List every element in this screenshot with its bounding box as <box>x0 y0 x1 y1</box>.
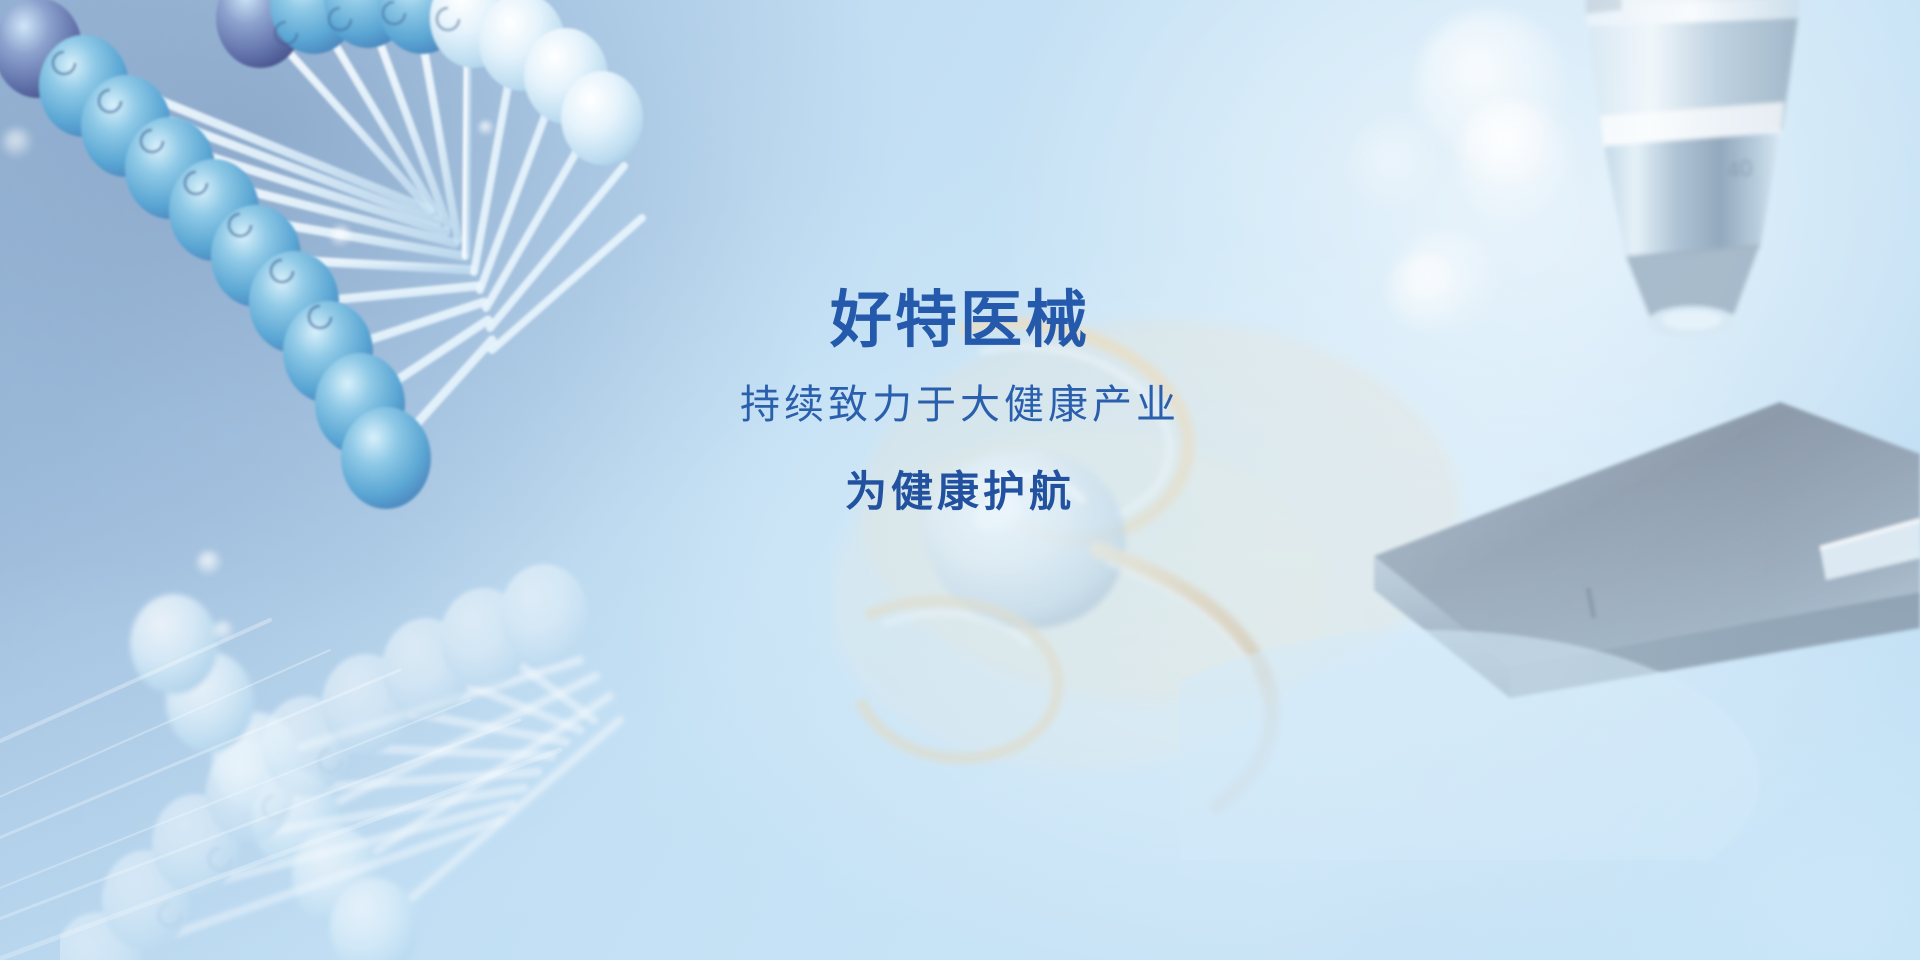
svg-text:40: 40 <box>1726 154 1754 183</box>
light-streaks <box>0 600 900 960</box>
banner-tagline: 为健康护航 <box>0 467 1920 517</box>
hero-banner: 40 <box>0 0 1920 960</box>
banner-subline: 持续致力于大健康产业 <box>0 381 1920 429</box>
banner-copy: 好特医械 持续致力于大健康产业 为健康护航 <box>0 286 1920 518</box>
banner-headline: 好特医械 <box>0 286 1920 355</box>
